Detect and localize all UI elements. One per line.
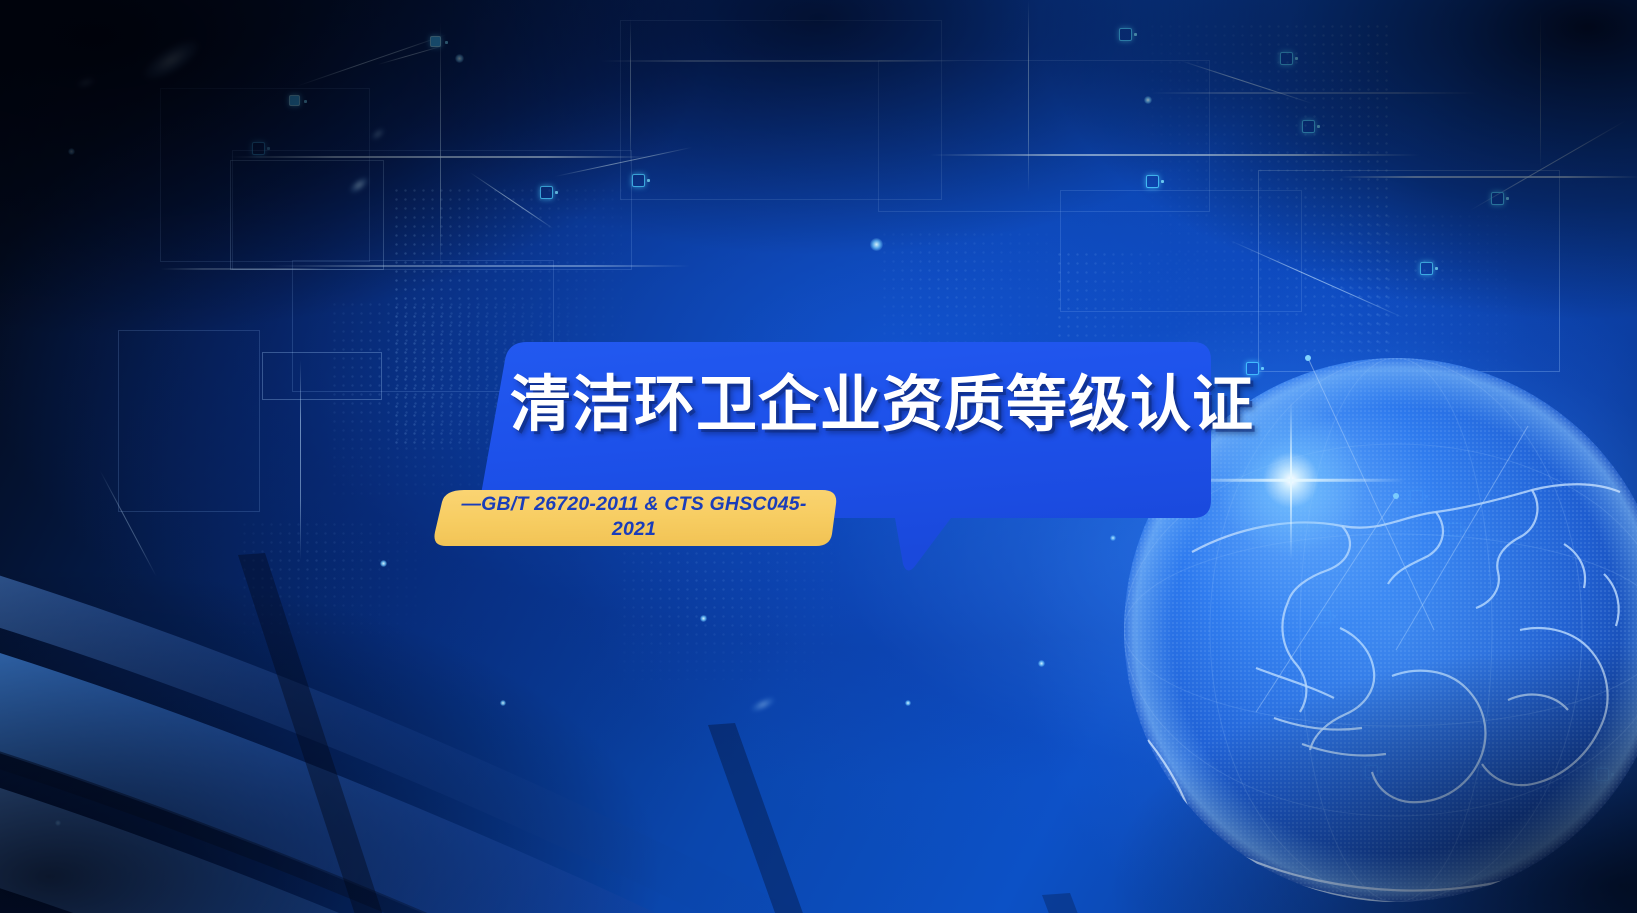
subtitle-tag: —GB/T 26720-2011 & CTS GHSC045-2021 [420,486,850,548]
page-title: 清洁环卫企业资质等级认证 [510,372,1170,436]
title-speech-bubble: 清洁环卫企业资质等级认证 [455,328,1235,588]
subtitle-text: —GB/T 26720-2011 & CTS GHSC045-2021 [448,492,820,543]
speech-bubble-shape [455,328,1235,588]
title-slide: 清洁环卫企业资质等级认证 —GB/T 26720-2011 & CTS GHSC… [0,0,1637,913]
